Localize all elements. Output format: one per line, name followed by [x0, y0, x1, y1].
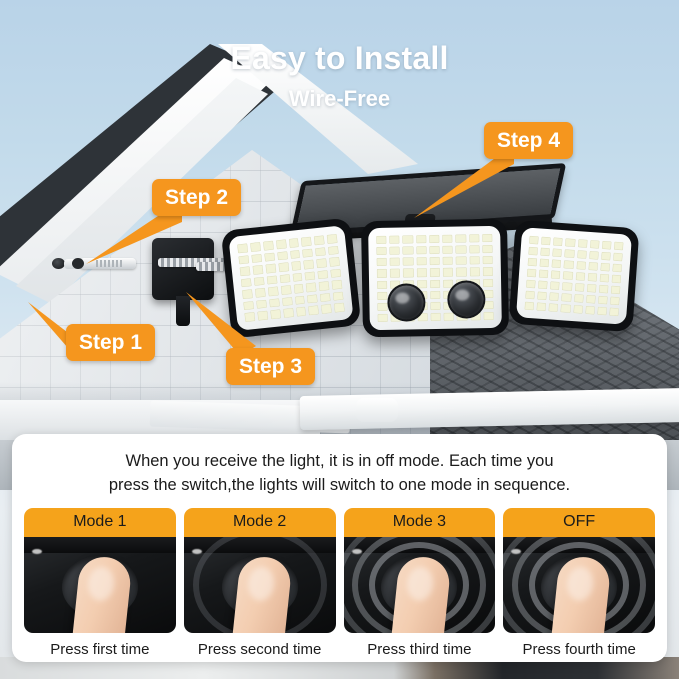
led-cell [540, 248, 550, 257]
led-cell [609, 308, 619, 317]
led-cell [250, 242, 261, 252]
mode-photo [184, 537, 336, 633]
left-led-grid [237, 234, 345, 322]
anchor-ribs [96, 260, 124, 267]
led-cell [456, 257, 466, 265]
led-cell [389, 236, 399, 244]
mode-cell: Mode 2 Press second time [184, 508, 336, 658]
led-cell [529, 236, 539, 245]
led-cell [256, 300, 267, 310]
mode-header: Mode 2 [184, 508, 336, 537]
led-cell [291, 261, 302, 271]
led-cell [304, 260, 315, 270]
led-cell [296, 307, 307, 317]
led-cell [332, 280, 343, 290]
led-cell [242, 289, 253, 299]
led-cell [443, 268, 453, 276]
led-cell [315, 247, 326, 257]
led-cell [577, 250, 587, 259]
led-cell [430, 291, 440, 299]
led-cell [538, 281, 548, 290]
highlight-glint [192, 549, 202, 554]
led-cell [277, 251, 288, 261]
led-cell [482, 256, 492, 264]
led-cell [573, 305, 583, 314]
led-cell [612, 264, 622, 273]
led-cell [527, 269, 537, 278]
led-cell [565, 238, 575, 247]
led-cell [564, 260, 574, 269]
led-cell [278, 262, 289, 272]
mode-header: Mode 3 [344, 508, 496, 537]
led-cell [416, 246, 426, 254]
led-cell [270, 310, 281, 320]
mode-photo [503, 537, 655, 633]
led-cell [575, 272, 585, 281]
right-led-panel [509, 220, 640, 332]
led-cell [443, 246, 453, 254]
led-cell [589, 251, 599, 260]
led-cell [553, 248, 563, 257]
mode-cell: Mode 1 Press first time [24, 508, 176, 658]
led-cell [562, 282, 572, 291]
led-cell [320, 293, 331, 303]
led-cell [294, 296, 305, 306]
mode-header: Mode 1 [24, 508, 176, 537]
led-cell [587, 284, 597, 293]
led-cell [390, 258, 400, 266]
led-cell [377, 258, 387, 266]
led-cell [565, 249, 575, 258]
led-cell [469, 245, 479, 253]
led-cell [549, 303, 559, 312]
led-cell [586, 295, 596, 304]
led-cell [264, 252, 275, 262]
led-cell [314, 235, 325, 245]
led-cell [483, 267, 493, 275]
led-cell [376, 247, 386, 255]
led-cell [599, 274, 609, 283]
led-cell [553, 238, 563, 247]
led-cell [601, 252, 611, 261]
led-cell [330, 269, 341, 279]
led-cell [443, 257, 453, 265]
led-cell [265, 264, 276, 274]
led-cell [416, 257, 426, 265]
led-cell [266, 275, 277, 285]
page-title: Easy to Install [0, 40, 679, 77]
led-cell [280, 285, 291, 295]
led-cell [552, 259, 562, 268]
led-cell [613, 253, 623, 262]
led-cell [307, 294, 318, 304]
led-cell [327, 234, 338, 244]
led-cell [251, 254, 262, 264]
led-cell [255, 288, 266, 298]
step-3-badge: Step 3 [226, 348, 315, 385]
left-led-panel [221, 218, 362, 339]
led-cell [416, 269, 426, 277]
led-cell [292, 273, 303, 283]
led-cell [574, 283, 584, 292]
step-4-badge: Step 4 [484, 122, 573, 159]
led-cell [469, 256, 479, 264]
led-cell [430, 313, 440, 321]
led-cell [539, 270, 549, 279]
mode-caption: Press first time [24, 633, 176, 658]
led-cell [318, 270, 329, 280]
led-cell [276, 239, 287, 249]
solar-flood-light [196, 170, 616, 350]
led-cell [306, 283, 317, 293]
housing-edge [24, 537, 176, 553]
led-cell [551, 270, 561, 279]
led-cell [334, 303, 345, 313]
led-cell [442, 235, 452, 243]
led-cell [614, 242, 624, 251]
led-cell [390, 247, 400, 255]
led-cell [378, 314, 388, 322]
led-cell [293, 284, 304, 294]
led-cell [562, 293, 572, 302]
led-cell [403, 247, 413, 255]
mode-cell: Mode 3 Press third time [344, 508, 496, 658]
right-led-grid [525, 236, 624, 316]
led-cell [257, 311, 268, 321]
mode-caption: Press fourth time [503, 633, 655, 658]
mode-caption: Press second time [184, 633, 336, 658]
led-cell [403, 258, 413, 266]
led-cell [416, 235, 426, 243]
led-cell [279, 274, 290, 284]
led-cell [240, 266, 251, 276]
led-cell [540, 259, 550, 268]
led-cell [302, 248, 313, 258]
led-cell [588, 262, 598, 271]
led-cell [563, 271, 573, 280]
led-cell [598, 296, 608, 305]
led-cell [377, 291, 387, 299]
led-cell [483, 278, 493, 286]
led-cell [612, 275, 622, 284]
bracket-tab [176, 296, 190, 326]
instruction-text: When you receive the light, it is in off… [24, 450, 655, 498]
led-cell [328, 245, 339, 255]
led-cell [597, 307, 607, 316]
led-cell [376, 236, 386, 244]
led-cell [333, 292, 344, 302]
mode-instruction-card: When you receive the light, it is in off… [12, 434, 667, 662]
led-cell [599, 285, 609, 294]
led-cell [252, 265, 263, 275]
led-cell [528, 258, 538, 267]
mode-caption: Press third time [344, 633, 496, 658]
led-cell [456, 234, 466, 242]
infographic-canvas: Easy to Install Wire-Free Step 1 Step 2 … [0, 0, 679, 679]
led-cell [305, 271, 316, 281]
led-cell [610, 297, 620, 306]
led-cell [456, 268, 466, 276]
led-cell [316, 258, 327, 268]
downspout-elbow [356, 398, 398, 422]
led-cell [403, 269, 413, 277]
led-cell [430, 302, 440, 310]
led-cell [290, 250, 301, 260]
led-cell [600, 263, 610, 272]
led-cell [430, 268, 440, 276]
led-cell [244, 312, 255, 322]
led-cell [587, 273, 597, 282]
led-cell [243, 301, 254, 311]
led-cell [585, 306, 595, 315]
led-cell [537, 302, 547, 311]
instruction-line-1: When you receive the light, it is in off… [126, 452, 554, 470]
led-cell [269, 298, 280, 308]
led-cell [525, 291, 535, 300]
center-led-panel [361, 219, 509, 338]
led-cell [321, 304, 332, 314]
led-cell [237, 243, 248, 253]
step-2-badge: Step 2 [152, 179, 241, 216]
led-cell [241, 278, 252, 288]
led-cell [526, 280, 536, 289]
led-cell [561, 304, 571, 313]
led-cell [482, 234, 492, 242]
instruction-line-2: press the switch,the lights will switch … [109, 476, 570, 494]
led-cell [550, 281, 560, 290]
step-1-badge: Step 1 [66, 324, 155, 361]
mode-header: OFF [503, 508, 655, 537]
mode-photo [344, 537, 496, 633]
led-cell [537, 292, 547, 301]
led-cell [482, 245, 492, 253]
led-cell [430, 279, 440, 287]
led-cell [541, 237, 551, 246]
led-cell [528, 247, 538, 256]
led-cell [301, 237, 312, 247]
led-cell [574, 294, 584, 303]
led-cell [377, 280, 387, 288]
led-cell [238, 255, 249, 265]
led-cell [483, 312, 493, 320]
led-cell [377, 269, 387, 277]
led-cell [456, 246, 466, 254]
led-cell [282, 297, 293, 307]
led-cell [444, 313, 454, 321]
led-cell [525, 302, 535, 311]
led-cell [611, 286, 621, 295]
led-cell [578, 239, 588, 248]
led-cell [319, 281, 330, 291]
led-cell [429, 246, 439, 254]
led-cell [390, 269, 400, 277]
mode-sequence-row: Mode 1 Press first time Mode 2 [24, 508, 655, 658]
led-cell [549, 292, 559, 301]
led-cell [283, 308, 294, 318]
led-cell [576, 261, 586, 270]
led-cell [268, 287, 279, 297]
led-cell [308, 306, 319, 316]
mode-cell: OFF Press fourth time [503, 508, 655, 658]
led-cell [469, 234, 479, 242]
led-cell [429, 235, 439, 243]
led-cell [288, 238, 299, 248]
led-cell [602, 241, 612, 250]
led-cell [377, 303, 387, 311]
led-cell [263, 241, 274, 251]
led-cell [254, 277, 265, 287]
led-cell [590, 240, 600, 249]
mode-photo [24, 537, 176, 633]
led-cell [469, 268, 479, 276]
page-subtitle: Wire-Free [0, 86, 679, 112]
led-cell [329, 257, 340, 267]
led-cell [403, 235, 413, 243]
led-cell [430, 257, 440, 265]
highlight-glint [32, 549, 42, 554]
